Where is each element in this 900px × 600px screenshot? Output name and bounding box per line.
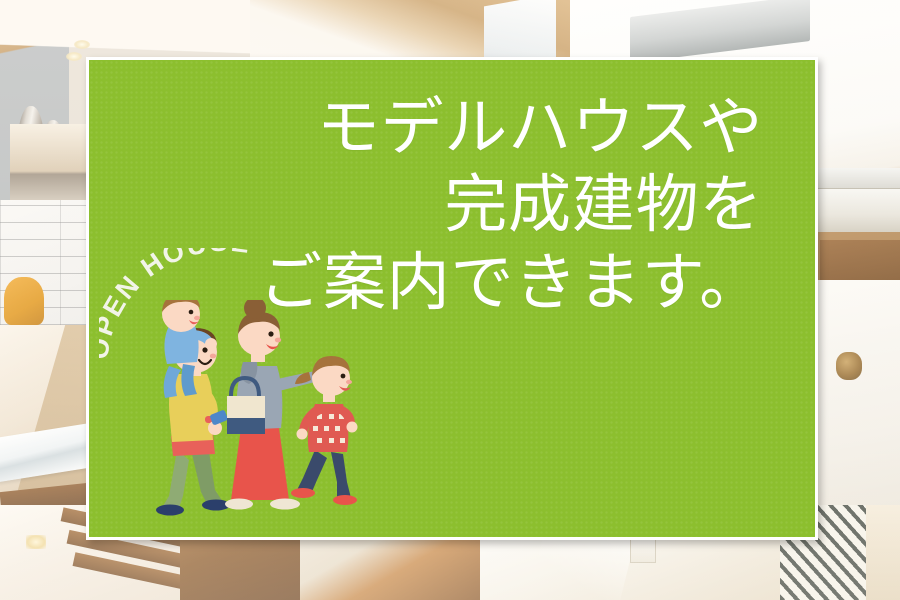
walking-family-illustration [139, 300, 399, 530]
father-cheek [210, 354, 216, 359]
girl-leg-back [297, 450, 327, 494]
boy-hand [205, 338, 217, 350]
headline-line-1: モデルハウスや [259, 90, 763, 167]
mother-skirt [231, 428, 289, 500]
mother-eye [268, 331, 273, 336]
headline-line-3: ご案内できます。 [259, 245, 763, 322]
father-leg-back [163, 450, 189, 508]
range-hood [630, 0, 810, 63]
decor-vase [18, 106, 44, 162]
decor-vase [42, 120, 64, 162]
boy-cheek [194, 316, 200, 320]
girl-shoe-back [291, 488, 315, 498]
ceiling-light-icon [66, 52, 82, 61]
headline-line-2: 完成建物を [259, 167, 763, 244]
girl-hand-front [347, 422, 358, 433]
girl-leg-front [331, 452, 351, 498]
dining-chair [4, 277, 44, 325]
girl-hand-back [297, 429, 308, 440]
tote-bag-band [227, 418, 265, 434]
mother-cheek [275, 338, 281, 343]
wall-ornament [836, 352, 862, 380]
girl-eye [341, 374, 346, 379]
father-shoe-back [156, 505, 184, 516]
green-callout-panel: OPEN HOUSE [86, 57, 818, 540]
headline-block: モデルハウスや 完成建物を ご案内できます。 [259, 90, 763, 322]
boy-eye [189, 310, 194, 315]
mother-shoe-back [225, 499, 253, 510]
mother-shoe-front [270, 499, 300, 510]
girl-shoe-front [333, 495, 357, 505]
girl-cheek [346, 380, 352, 384]
girl-figure [291, 356, 358, 505]
photo-wood-surface [820, 240, 900, 284]
ceiling-light-icon [74, 40, 90, 49]
open-house-promotion-banner: OPEN HOUSE [0, 0, 900, 600]
photo-wall-hanging [820, 280, 900, 540]
step-lamp-icon [26, 535, 46, 549]
father-leg-front [191, 450, 223, 504]
